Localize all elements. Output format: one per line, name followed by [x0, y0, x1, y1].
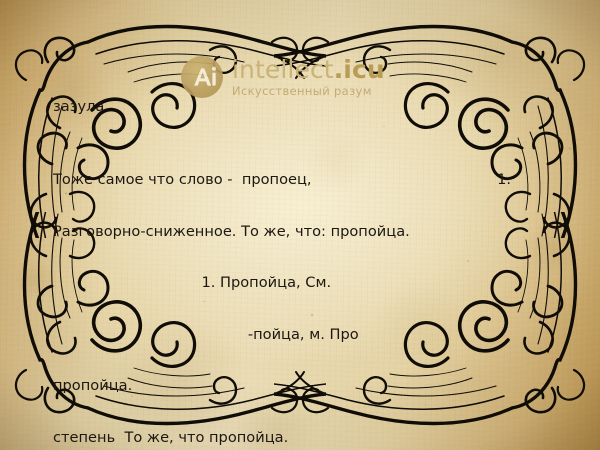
article-line-3: 1. Пропойца, См. [53, 274, 558, 292]
article-line-1: Тоже самое что слово - пропоец, 1. [53, 171, 558, 189]
parchment-canvas: intellect.icu Искусственный разум зазула… [0, 0, 600, 450]
headword: зазула [53, 98, 558, 115]
article-line-4: -пойца, м. Про [53, 326, 558, 344]
dictionary-article: зазула Тоже самое что слово - пропоец, 1… [53, 64, 558, 450]
article-line-6: степень То же, что пропойца. [53, 429, 558, 447]
article-line-5: пропойца. [53, 377, 558, 395]
article-line-2: Разговорно-сниженное. То же, что: пропой… [53, 223, 558, 241]
